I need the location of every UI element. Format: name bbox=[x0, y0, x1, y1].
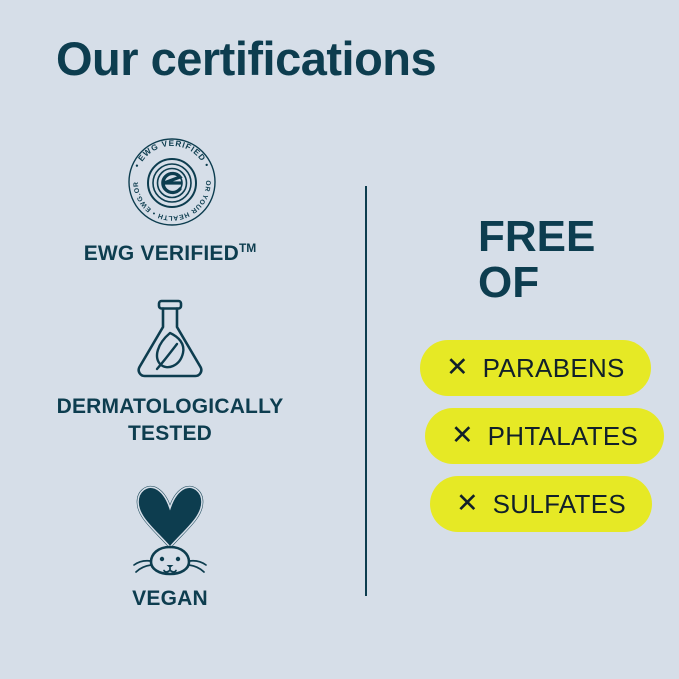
free-of-pill-parabens: ✕ PARABENS bbox=[420, 340, 651, 396]
free-of-heading-line2: OF bbox=[478, 260, 660, 306]
free-of-heading-line1: FREE bbox=[478, 212, 595, 261]
free-of-pill-label: PHTALATES bbox=[488, 421, 639, 452]
certification-label-ewg: EWG VERIFIEDTM bbox=[84, 241, 257, 267]
derm-label-line2: TESTED bbox=[128, 422, 212, 445]
page-title: Our certifications bbox=[56, 33, 436, 85]
free-of-heading: FREE OF bbox=[420, 214, 660, 306]
close-icon: ✕ bbox=[456, 490, 479, 517]
certification-item-dermatologically-tested: DERMATOLOGICALLY TESTED bbox=[0, 293, 340, 447]
ewg-verified-seal-icon: • EWG VERIFIED • • FOR YOUR HEALTH • EWG… bbox=[118, 128, 222, 232]
free-of-section: FREE OF ✕ PARABENS ✕ PHTALATES ✕ SULFATE… bbox=[420, 214, 660, 532]
free-of-pill-list: ✕ PARABENS ✕ PHTALATES ✕ SULFATES bbox=[420, 340, 660, 532]
free-of-pill-label: SULFATES bbox=[493, 489, 626, 520]
free-of-pill-sulfates: ✕ SULFATES bbox=[430, 476, 652, 532]
free-of-pill-label: PARABENS bbox=[483, 353, 625, 384]
certification-item-vegan: VEGAN bbox=[0, 473, 340, 612]
trademark-mark: TM bbox=[239, 241, 256, 255]
flask-leaf-icon bbox=[124, 293, 216, 385]
close-icon: ✕ bbox=[446, 354, 469, 381]
certification-label-vegan: VEGAN bbox=[132, 586, 208, 612]
certification-item-ewg: • EWG VERIFIED • • FOR YOUR HEALTH • EWG… bbox=[0, 128, 340, 267]
certifications-panel: Our certifications • EWG VERIFIED • bbox=[0, 0, 679, 679]
ewg-label-text: EWG VERIFIED bbox=[84, 242, 239, 265]
bunny-heart-ears-icon bbox=[118, 473, 222, 577]
close-icon: ✕ bbox=[451, 422, 474, 449]
free-of-pill-phtalates: ✕ PHTALATES bbox=[425, 408, 664, 464]
derm-label-line1: DERMATOLOGICALLY bbox=[57, 395, 284, 418]
certifications-list: • EWG VERIFIED • • FOR YOUR HEALTH • EWG… bbox=[0, 128, 340, 612]
certification-label-dermatologically-tested: DERMATOLOGICALLY TESTED bbox=[57, 394, 284, 447]
vertical-divider bbox=[365, 186, 367, 596]
